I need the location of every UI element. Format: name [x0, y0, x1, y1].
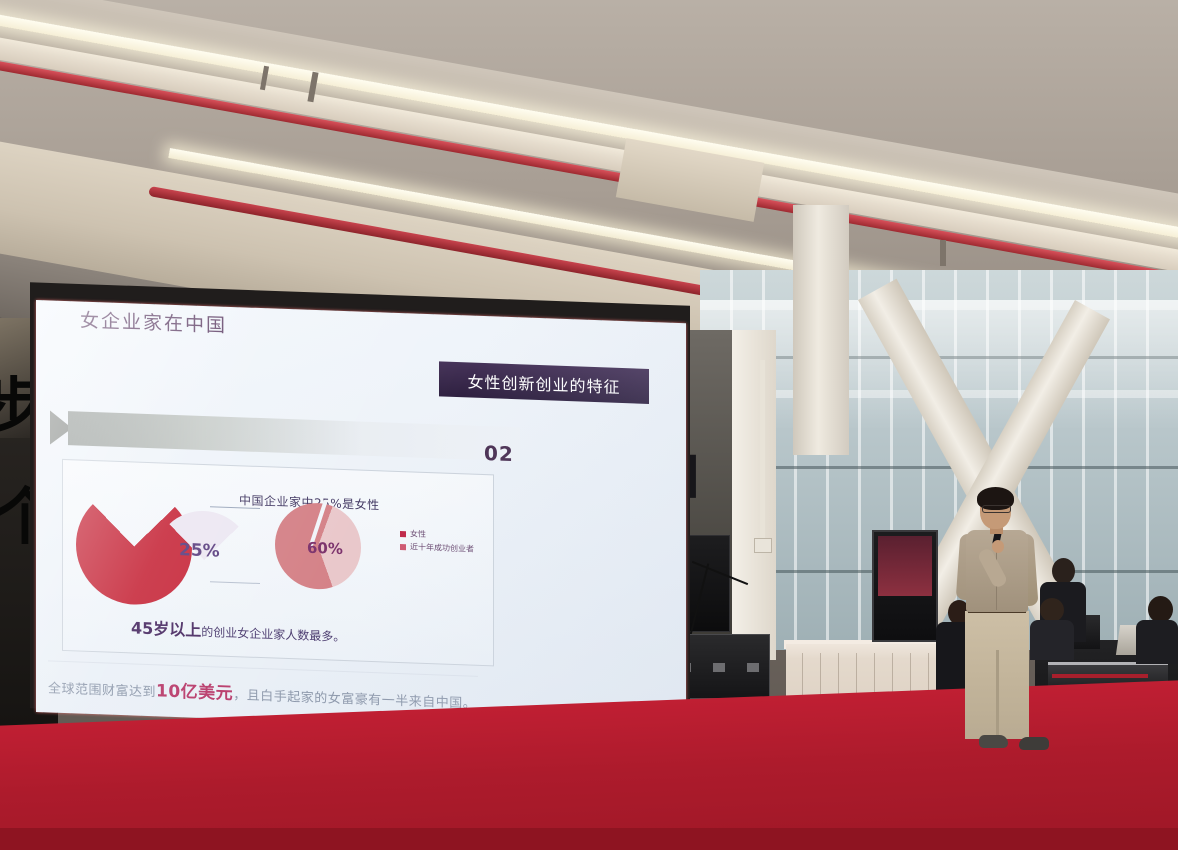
pie-label-25: 25% [179, 540, 220, 561]
legend-swatch-icon-0 [400, 531, 406, 537]
presenter-shoe-left [979, 735, 1008, 748]
display-monitor [872, 530, 938, 642]
legend-label-0: 女性 [410, 529, 426, 539]
section-number: 02 [484, 441, 514, 466]
presenter-hand [992, 540, 1004, 553]
vertical-column [793, 205, 849, 455]
rack-stripe [1052, 674, 1148, 678]
legend-label-1: 近十年成功创业者 [410, 543, 474, 554]
conference-photo: 步 个 E 凶 [0, 0, 1178, 850]
ribbon-body [68, 411, 520, 461]
presenter-glasses-icon [982, 505, 1011, 513]
electrical-conduit [760, 360, 765, 540]
pipe-hanger-3 [940, 240, 946, 266]
presenter-shoe-right [1019, 737, 1049, 750]
section-heading: 女企业家在中国 [80, 306, 227, 338]
footer-pre: 全球范围财富达到 [48, 681, 156, 700]
caption-rest: 的创业女企业家人数最多。 [201, 625, 345, 644]
slide-content: 女性创新创业的特征 女企业家在中国 02 25% 中国企业家中25%是女性 60… [36, 300, 686, 735]
footer-emphasis: 10亿美元 [156, 681, 233, 704]
presenter-leg-seam [996, 650, 999, 739]
caption-emphasis: 45岁以上 [131, 618, 201, 640]
legend-item-1: 近十年成功创业者 [400, 540, 474, 556]
chart-container: 25% 中国企业家中25%是女性 60% 女性 近十年成功创业者 45岁以上的 [62, 459, 494, 666]
slide-title-banner: 女性创新创业的特征 [439, 361, 649, 404]
chart-legend: 女性 近十年成功创业者 [400, 527, 474, 556]
slide-title-text: 女性创新创业的特征 [467, 368, 620, 397]
conduit-outlet-box [754, 538, 772, 553]
projection-screen[interactable]: 女性创新创业的特征 女企业家在中国 02 25% 中国企业家中25%是女性 60… [36, 300, 686, 735]
section-ribbon [50, 411, 520, 462]
legend-swatch-icon-1 [400, 544, 406, 550]
chart-caption: 45岁以上的创业女企业家人数最多。 [131, 614, 345, 646]
stage-front-edge [0, 828, 1178, 850]
pie-label-60: 60% [307, 539, 343, 558]
